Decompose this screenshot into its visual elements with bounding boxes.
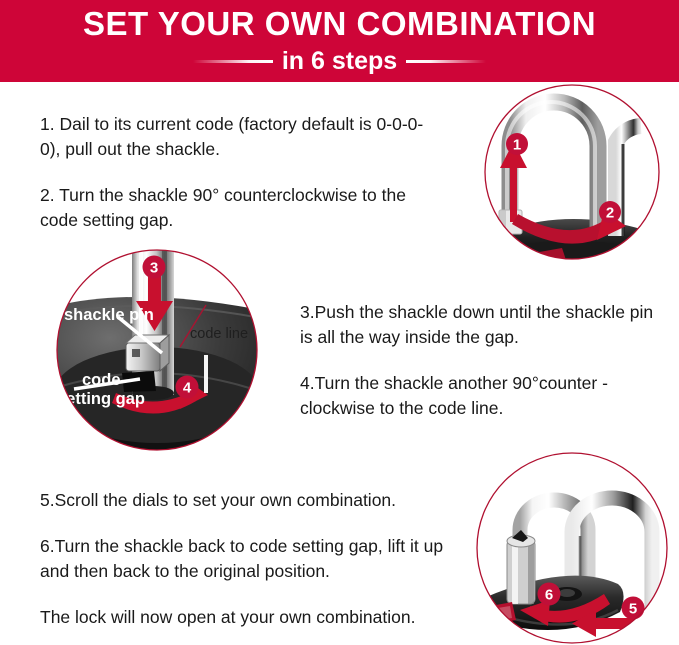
- subtitle-rule-left: [193, 60, 273, 63]
- illustration-shackle-pin-detail: shackle pin code setting gap code line 3…: [56, 245, 258, 461]
- step-badge-2-label: 2: [606, 205, 614, 222]
- closing-text: The lock will now open at your own combi…: [40, 605, 470, 630]
- subtitle-row: in 6 steps: [0, 46, 679, 76]
- step-badge-6-label: 6: [545, 587, 553, 604]
- step-badge-1: 1: [506, 133, 528, 155]
- illustration-shackle-pull-and-turn: 1 2: [466, 84, 679, 260]
- step-badge-2: 2: [599, 201, 621, 223]
- steps-block-five-six: 5.Scroll the dials to set your own combi…: [40, 488, 470, 630]
- header-banner: SET YOUR OWN COMBINATION in 6 steps: [0, 0, 679, 82]
- step-2-text: 2. Turn the shackle 90° counterclockwise…: [40, 183, 440, 233]
- page-title: SET YOUR OWN COMBINATION: [0, 4, 679, 44]
- code-line-tick: [204, 355, 208, 393]
- step-1-text: 1. Dail to its current code (factory def…: [40, 112, 440, 162]
- step-badge-3: 3: [143, 256, 166, 279]
- step-badge-5: 5: [622, 597, 645, 620]
- dial-cylinder: [507, 530, 535, 604]
- step-badge-3-label: 3: [150, 260, 158, 277]
- label-shackle-pin: shackle pin: [64, 306, 154, 324]
- step-badge-4-label: 4: [183, 380, 192, 397]
- step-badge-4: 4: [176, 376, 199, 399]
- step-badge-1-label: 1: [513, 137, 521, 154]
- infographic-page: SET YOUR OWN COMBINATION in 6 steps 1. D…: [0, 0, 679, 645]
- steps-block-three-four: 3.Push the shackle down until the shackl…: [300, 300, 668, 421]
- step-badge-5-label: 5: [629, 601, 637, 618]
- label-code-setting-gap-line1: code: [82, 371, 121, 389]
- subtitle-rule-right: [406, 60, 486, 63]
- illustration-dials-and-shackle-return: 6 5: [468, 452, 676, 644]
- page-subtitle: in 6 steps: [282, 46, 397, 76]
- illustration-art-bottom-right: [468, 452, 676, 644]
- step-6-text: 6.Turn the shackle back to code setting …: [40, 534, 470, 584]
- step-3-text: 3.Push the shackle down until the shackl…: [300, 300, 668, 350]
- illustration-art-top-right: [466, 84, 679, 260]
- label-code-line: code line: [190, 326, 248, 342]
- step-badge-6: 6: [538, 583, 561, 606]
- step-4-text: 4.Turn the shackle another 90°counter -c…: [300, 371, 668, 421]
- step-5-text: 5.Scroll the dials to set your own combi…: [40, 488, 470, 513]
- steps-block-one-two: 1. Dail to its current code (factory def…: [40, 112, 440, 233]
